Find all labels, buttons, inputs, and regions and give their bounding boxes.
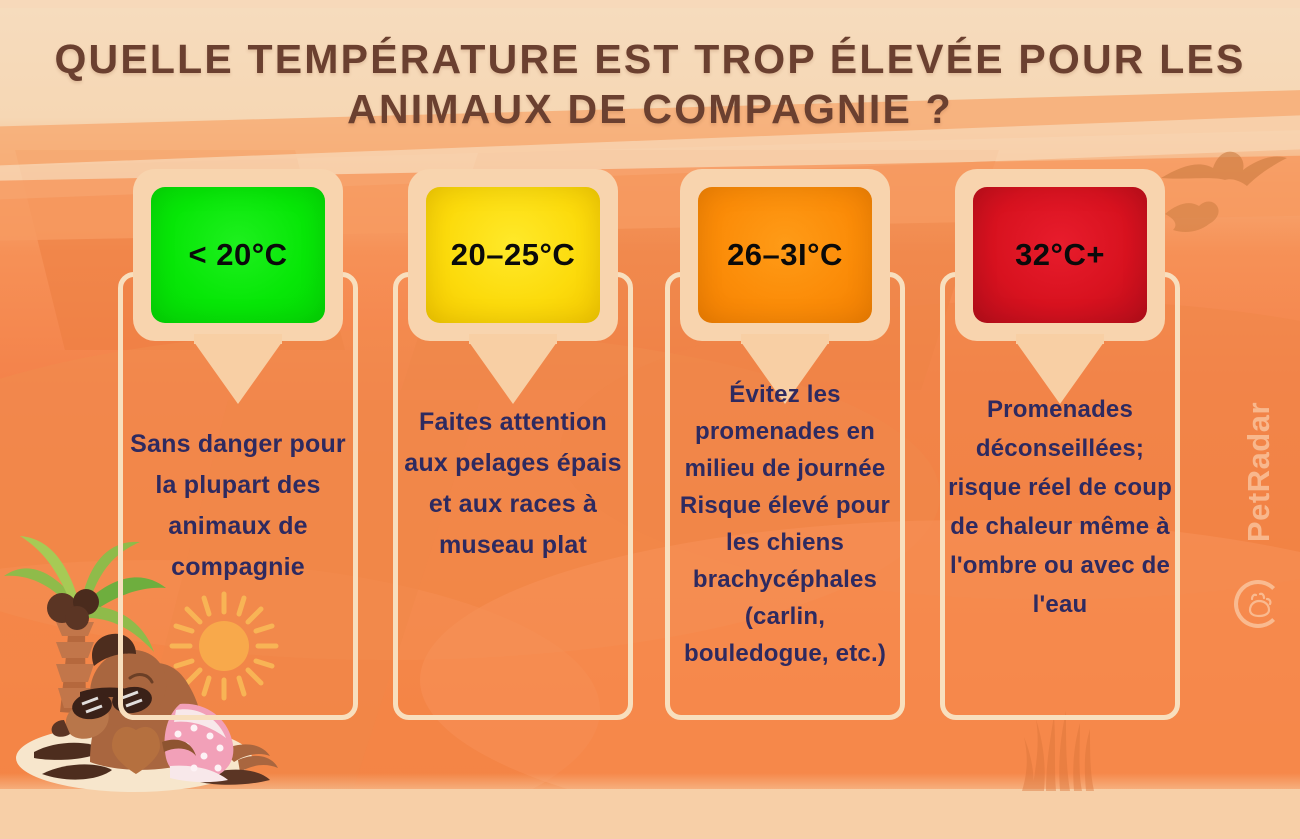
temperature-card-red[interactable]: 32°C+ Promenades déconseillées; risque r… xyxy=(940,272,1180,720)
card-body-text: Sans danger pour la plupart des animaux … xyxy=(126,424,350,588)
down-arrow-icon xyxy=(469,342,557,404)
badge-wrapper: 20–25°C xyxy=(408,169,618,341)
card-body-text: Évitez les promenades en milieu de journ… xyxy=(673,376,897,672)
temperature-card-orange[interactable]: 26–3I°C Évitez les promenades en milieu … xyxy=(665,272,905,720)
temperature-badge: 26–3I°C xyxy=(698,187,872,323)
temperature-badge: 32°C+ xyxy=(973,187,1147,323)
temperature-badge: < 20°C xyxy=(151,187,325,323)
temperature-card-green[interactable]: < 20°C Sans danger pour la plupart des a… xyxy=(118,272,358,720)
card-body-text: Faites attention aux pelages épais et au… xyxy=(401,402,625,566)
badge-wrapper: 26–3I°C xyxy=(680,169,890,341)
card-body-text: Promenades déconseillées; risque réel de… xyxy=(948,390,1172,624)
down-arrow-icon xyxy=(194,342,282,404)
badge-wrapper: 32°C+ xyxy=(955,169,1165,341)
temperature-card-list: < 20°C Sans danger pour la plupart des a… xyxy=(0,0,1300,839)
infographic-canvas: QUELLE TEMPÉRATURE EST TROP ÉLEVÉE POUR … xyxy=(0,0,1300,839)
temperature-badge: 20–25°C xyxy=(426,187,600,323)
temperature-card-yellow[interactable]: 20–25°C Faites attention aux pelages épa… xyxy=(393,272,633,720)
badge-wrapper: < 20°C xyxy=(133,169,343,341)
